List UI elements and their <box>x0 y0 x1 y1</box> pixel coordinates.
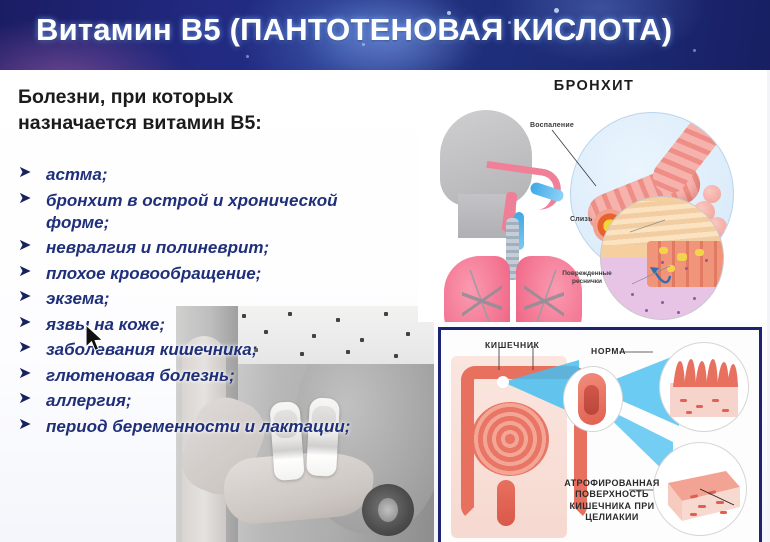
list-item: ➤ экзема; <box>18 290 418 307</box>
list-item: ➤ аллергия; <box>18 392 418 409</box>
list-item: ➤ глютеновая болезнь; <box>18 367 418 384</box>
label-damaged-cilia: Поврежденные реснички <box>542 270 632 286</box>
list-item: ➤ невралгия и полиневрит; <box>18 239 418 256</box>
list-item-label: экзема; <box>46 289 110 308</box>
lead-line-2: назначается витамин В5: <box>18 110 408 136</box>
arrow-bullet-icon: ➤ <box>18 417 31 433</box>
list-item: ➤ заболевания кишечника; <box>18 341 418 358</box>
label-damaged-cilia-line1: Поврежденные <box>562 270 612 277</box>
label-mucus: Слизь <box>570 216 593 223</box>
list-item-label: заболевания кишечника; <box>46 340 257 359</box>
label-damaged-cilia-line2: реснички <box>572 278 602 285</box>
lead-line-1: Болезни, при которых <box>18 84 408 110</box>
list-item-label-cont: форме; <box>46 214 418 231</box>
disease-list: ➤ астма; ➤ бронхит в острой и хроническо… <box>18 166 418 443</box>
arrow-bullet-icon: ➤ <box>18 238 31 254</box>
label-inflammation: Воспаление <box>530 122 574 129</box>
label-intestine: КИШЕЧНИК <box>485 340 540 350</box>
list-item: ➤ астма; <box>18 166 418 183</box>
atrophy-caption-line3: КИШЕЧНИКА ПРИ <box>570 501 655 511</box>
intestine-diagram: КИШЕЧНИК НОРМА АТРОФИРОВАННАЯ ПОВЕРХНОСТ… <box>438 327 762 542</box>
lead-text: Болезни, при которых назначается витамин… <box>18 84 408 136</box>
mouse-cursor-icon <box>84 324 106 354</box>
label-norm: НОРМА <box>591 346 626 356</box>
arrow-bullet-icon: ➤ <box>18 366 31 382</box>
list-item-label: аллергия; <box>46 391 132 410</box>
list-item-label: глютеновая болезнь; <box>46 366 235 385</box>
list-item: ➤ язвы на коже; <box>18 316 418 333</box>
list-item: ➤ плохое кровообращение; <box>18 265 418 282</box>
dress-ornament <box>362 484 414 536</box>
atrophy-caption-line4: ЦЕЛИАКИИ <box>585 512 639 522</box>
arrow-bullet-icon: ➤ <box>18 289 31 305</box>
list-item-label: бронхит в острой и хронической <box>46 191 337 210</box>
arrow-bullet-icon: ➤ <box>18 264 31 280</box>
arrow-bullet-icon: ➤ <box>18 315 31 331</box>
atrophy-caption-line1: АТРОФИРОВАННАЯ <box>564 478 660 488</box>
slide: Витамин В5 (ПАНТОТЕНОВАЯ КИСЛОТА) Болезн… <box>0 0 770 542</box>
bronchitis-diagram: БРОНХИТ <box>418 70 770 322</box>
arrow-bullet-icon: ➤ <box>18 165 31 181</box>
bowel-closeup <box>563 366 623 432</box>
atrophy-caption-line2: ПОВЕРХНОСТЬ <box>575 489 649 499</box>
sparkle-icon <box>693 49 696 52</box>
arrow-bullet-icon: ➤ <box>18 191 31 207</box>
list-item-label: невралгия и полиневрит; <box>46 238 269 257</box>
arrow-bullet-icon: ➤ <box>18 391 31 407</box>
atrophy-caption: АТРОФИРОВАННАЯ ПОВЕРХНОСТЬ КИШЕЧНИКА ПРИ… <box>537 478 687 523</box>
arrow-bullet-icon: ➤ <box>18 340 31 356</box>
list-item: ➤ период беременности и лактации; <box>18 418 418 435</box>
normal-villi-magnifier <box>659 342 749 432</box>
list-item-label: плохое кровообращение; <box>46 264 261 283</box>
list-item: ➤ бронхит в острой и хронической форме; <box>18 192 418 231</box>
list-item-label: астма; <box>46 165 108 184</box>
list-item-label: период беременности и лактации; <box>46 417 350 436</box>
page-title: Витамин В5 (ПАНТОТЕНОВАЯ КИСЛОТА) <box>36 12 672 48</box>
sparkle-icon <box>246 55 249 58</box>
